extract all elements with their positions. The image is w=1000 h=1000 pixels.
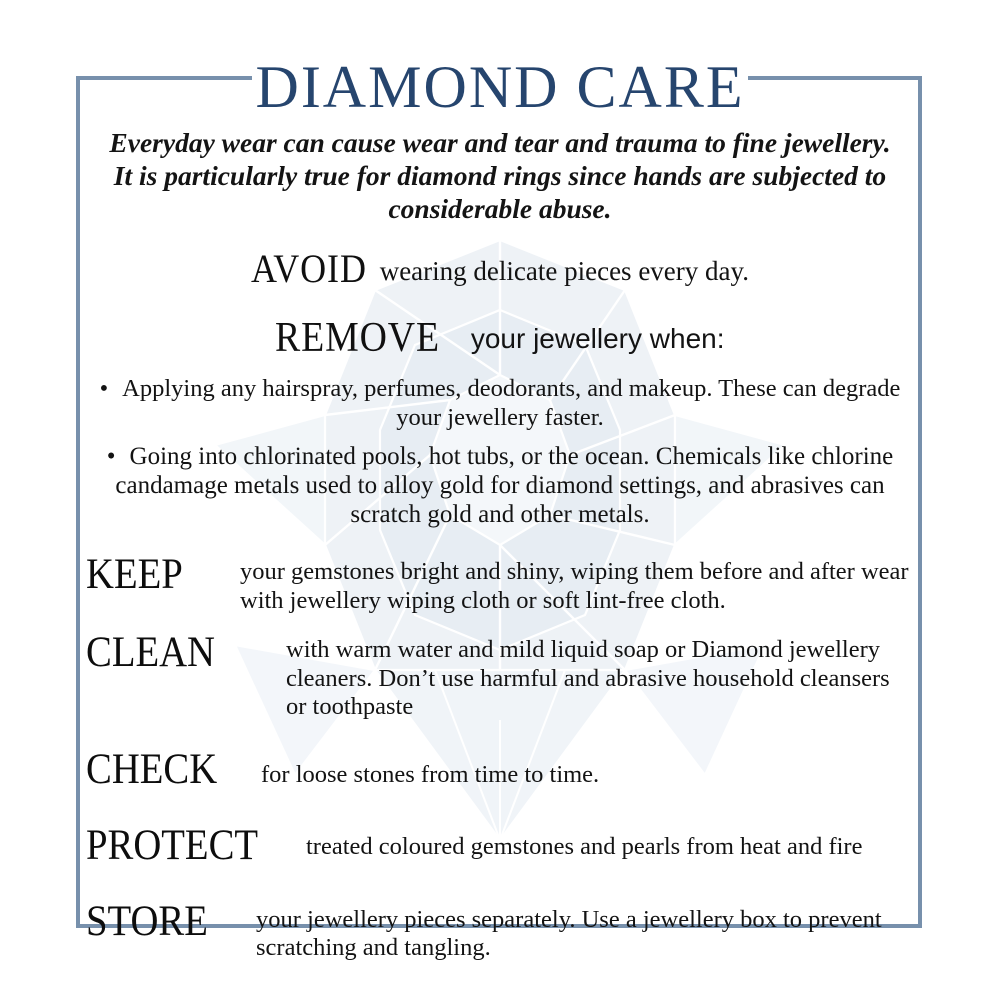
frame-border-left: [76, 76, 80, 928]
list-item-text: Applying any hairspray, perfumes, deodor…: [122, 375, 900, 431]
remove-label: REMOVE: [275, 314, 440, 362]
bullet-glyph-icon: •: [107, 443, 116, 470]
diamond-care-poster: DIAMOND CARE Everyday wear can cause wea…: [0, 0, 1000, 1000]
section-clean: CLEAN with warm water and mild liquid so…: [86, 631, 914, 722]
remove-bullet-list: •Applying any hairspray, perfumes, deodo…: [86, 374, 914, 529]
list-item: •Applying any hairspray, perfumes, deodo…: [86, 374, 914, 432]
keep-label: KEEP: [86, 553, 221, 597]
list-item-text: Going into chlorinated pools, hot tubs, …: [115, 443, 893, 528]
avoid-label: AVOID: [251, 245, 367, 292]
section-keep: KEEP your gemstones bright and shiny, wi…: [86, 553, 914, 615]
avoid-text: wearing delicate pieces every day.: [380, 256, 749, 286]
intro-paragraph: Everyday wear can cause wear and tear an…: [100, 126, 900, 225]
page-title: DIAMOND CARE: [0, 57, 1000, 117]
bullet-glyph-icon: •: [100, 375, 109, 402]
section-avoid: AVOIDwearing delicate pieces every day.: [86, 245, 914, 292]
remove-text: your jewellery when:: [459, 323, 725, 354]
clean-text: with warm water and mild liquid soap or …: [282, 631, 914, 722]
store-label: STORE: [86, 900, 239, 944]
section-check: CHECK for loose stones from time to time…: [86, 748, 914, 792]
section-store: STORE your jewellery pieces separately. …: [86, 900, 914, 963]
check-text: for loose stones from time to time.: [261, 748, 914, 790]
store-text: your jewellery pieces separately. Use a …: [256, 900, 914, 963]
clean-label: CLEAN: [86, 631, 262, 675]
frame-border-right: [918, 76, 922, 928]
protect-label: PROTECT: [86, 824, 284, 868]
check-label: CHECK: [86, 748, 244, 792]
list-item: •Going into chlorinated pools, hot tubs,…: [86, 442, 914, 529]
protect-text: treated coloured gemstones and pearls fr…: [306, 824, 914, 862]
section-remove: REMOVEyour jewellery when:: [86, 314, 914, 362]
section-protect: PROTECT treated coloured gemstones and p…: [86, 824, 914, 868]
keep-text: your gemstones bright and shiny, wiping …: [236, 553, 914, 615]
poster-content: Everyday wear can cause wear and tear an…: [86, 126, 914, 963]
